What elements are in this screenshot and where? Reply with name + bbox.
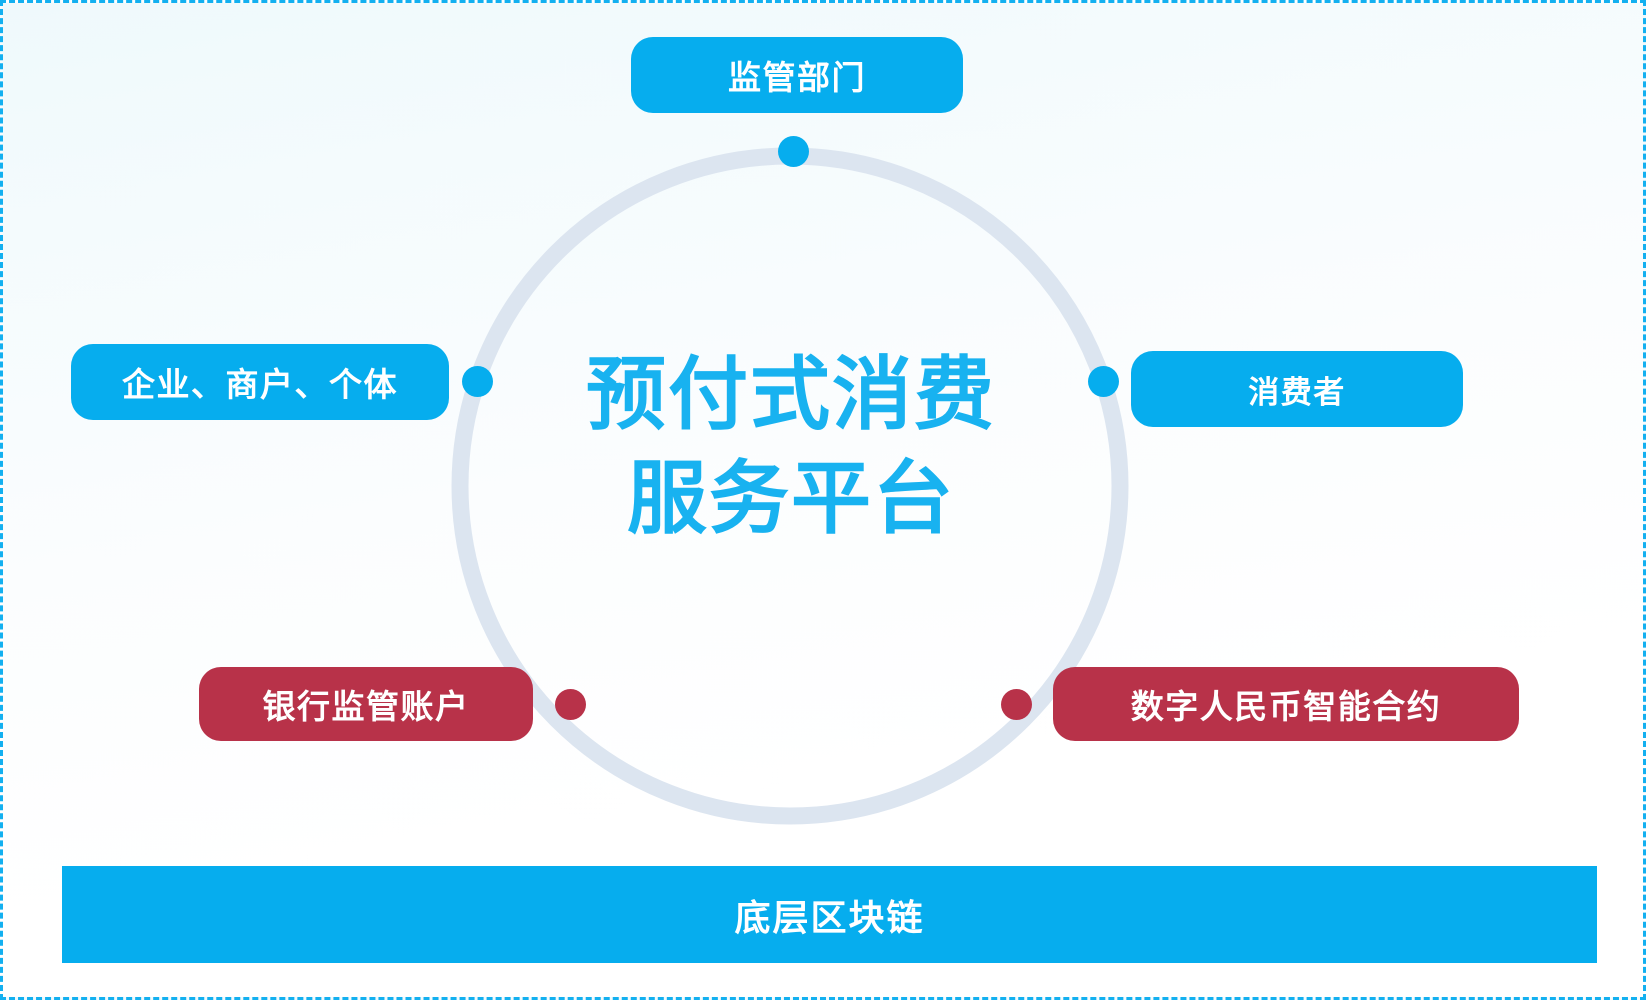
node-label-contract[interactable]: 数字人民币智能合约 bbox=[1053, 667, 1519, 741]
node-dot-enterprise bbox=[462, 366, 493, 397]
node-label-consumer[interactable]: 消费者 bbox=[1131, 351, 1463, 427]
node-dot-regulator bbox=[778, 136, 809, 167]
diagram-canvas: 预付式消费 服务平台 监管部门 企业、商户、个体 消费者 银行监管账户 数字人民… bbox=[0, 0, 1646, 1000]
node-label-enterprise[interactable]: 企业、商户、个体 bbox=[71, 344, 449, 420]
node-label-regulator[interactable]: 监管部门 bbox=[631, 37, 963, 113]
node-dot-bank bbox=[555, 689, 586, 720]
node-label-bank[interactable]: 银行监管账户 bbox=[199, 667, 533, 741]
foundation-bar[interactable]: 底层区块链 bbox=[62, 866, 1597, 963]
platform-title: 预付式消费 服务平台 bbox=[513, 343, 1069, 551]
node-dot-consumer bbox=[1088, 366, 1119, 397]
node-dot-contract bbox=[1001, 689, 1032, 720]
